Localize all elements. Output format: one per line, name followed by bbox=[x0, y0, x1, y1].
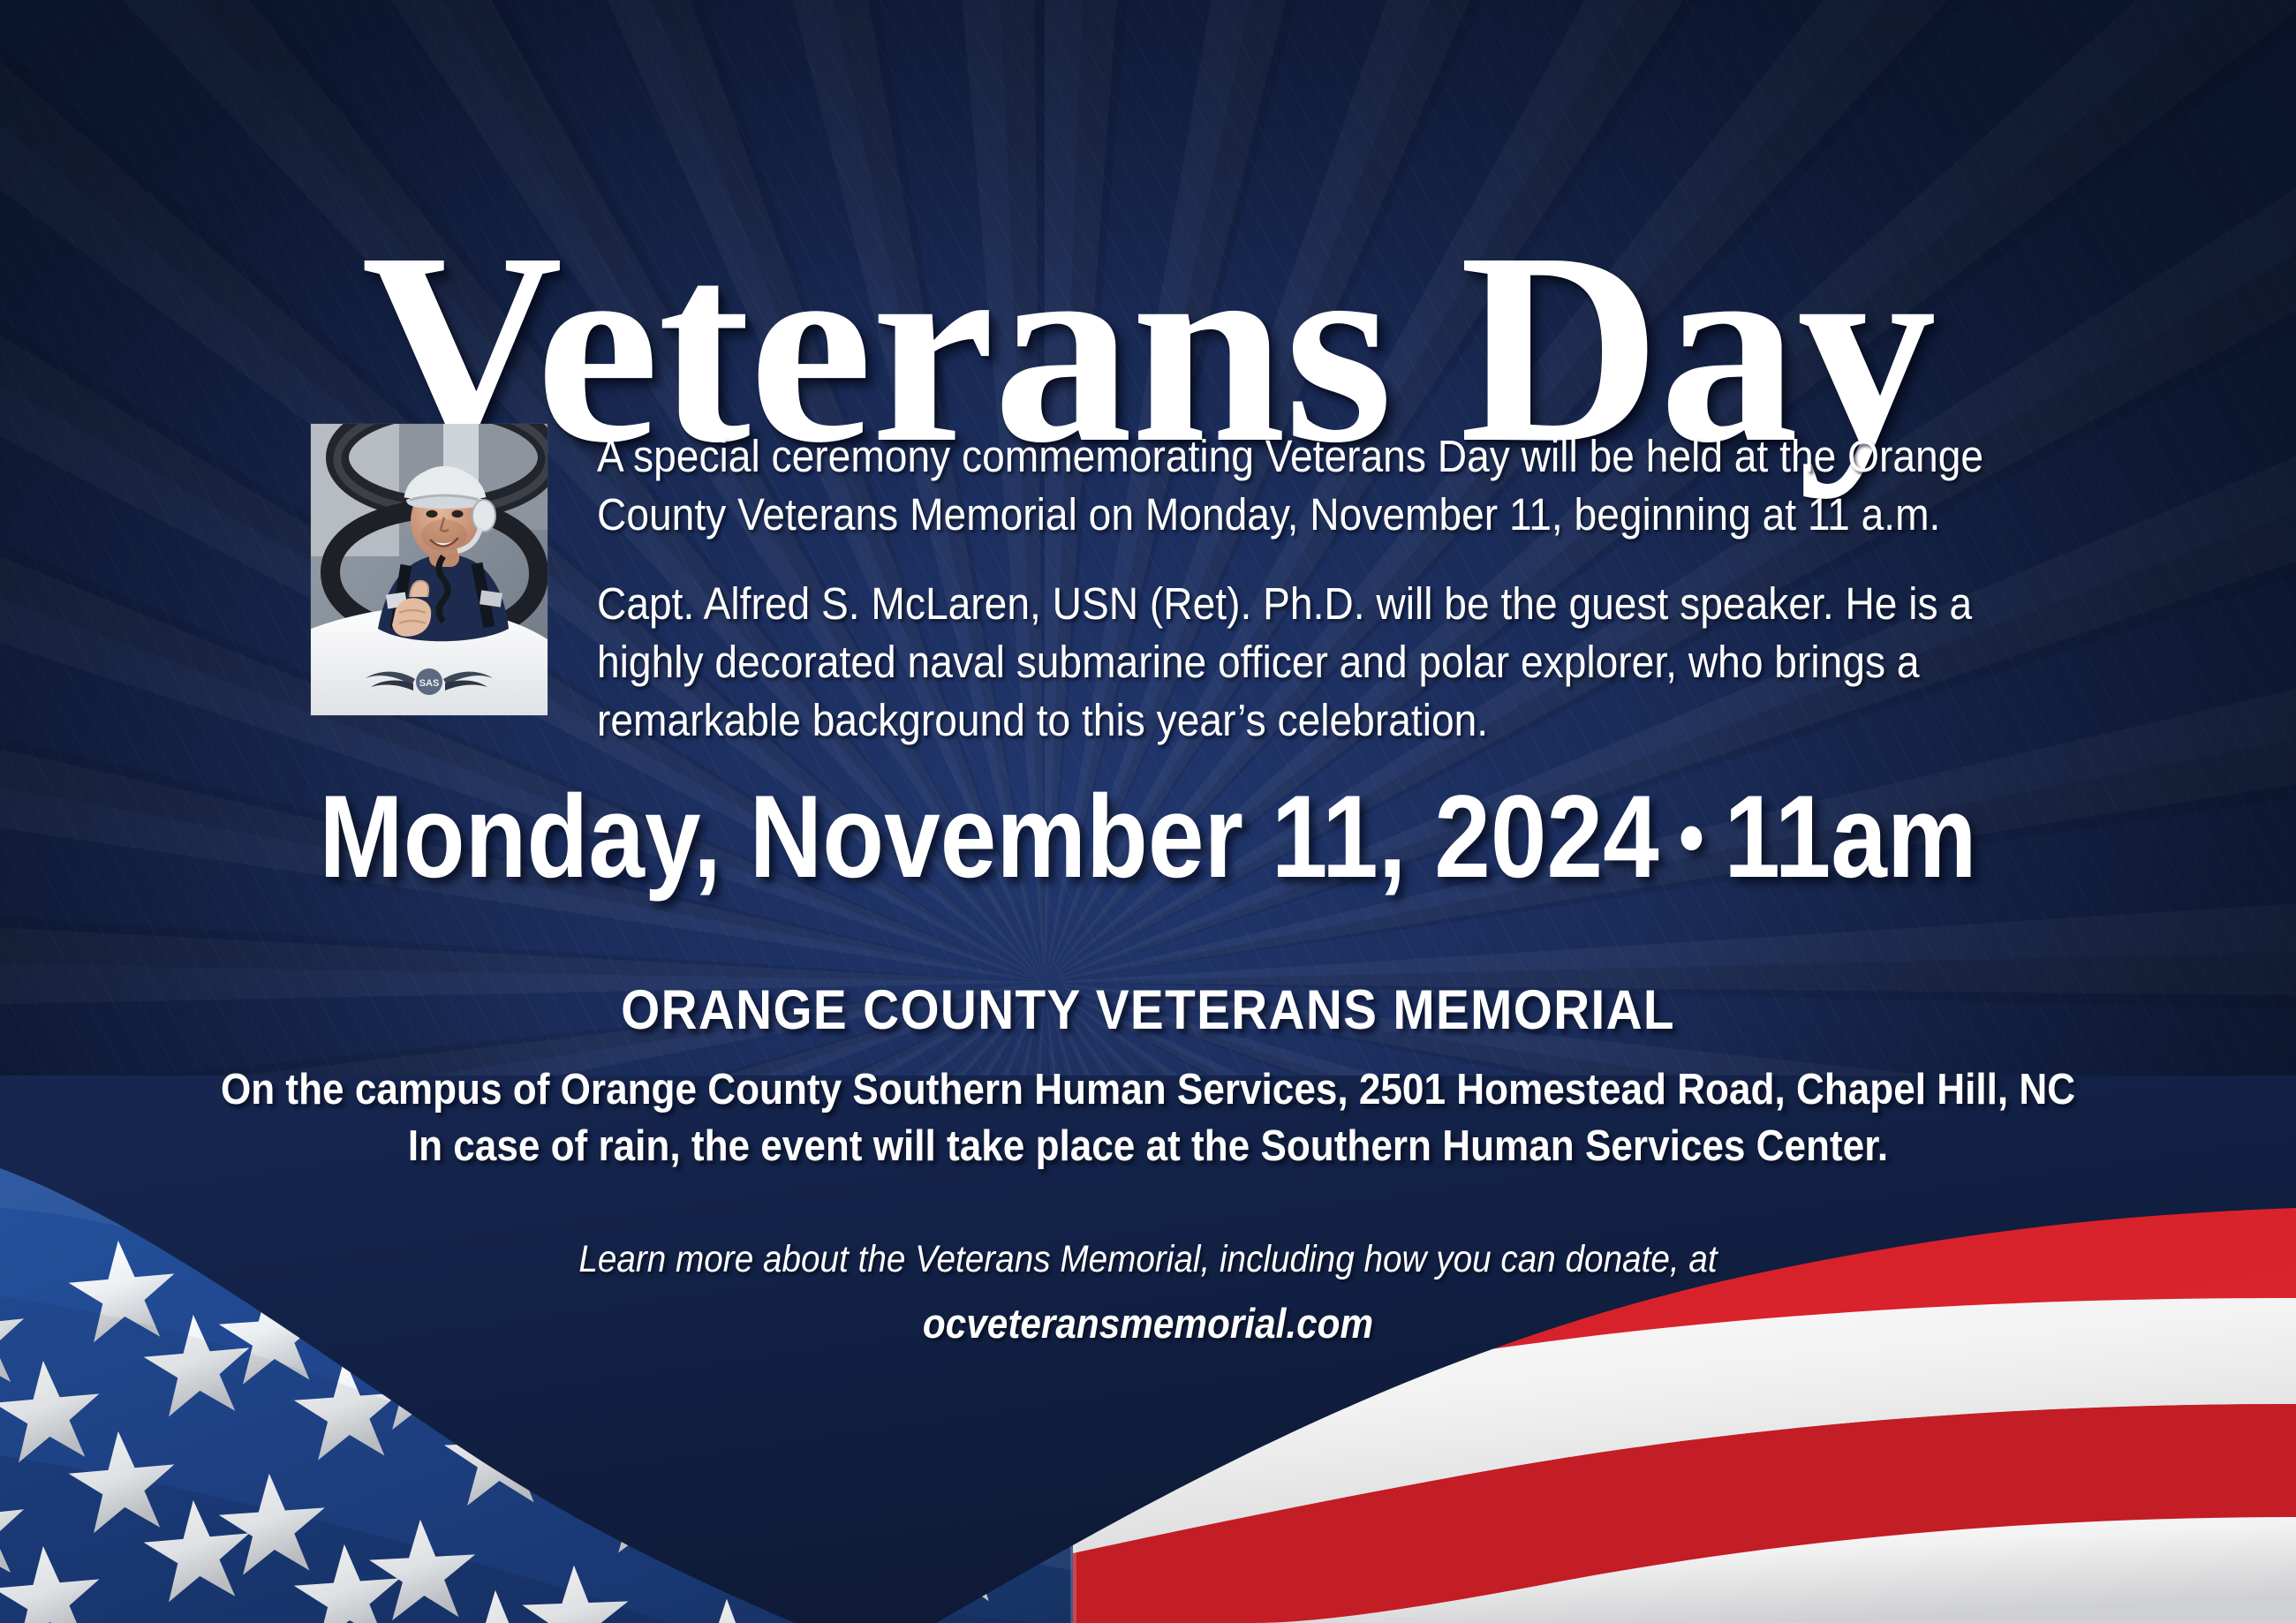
venue-section: ORANGE COUNTY VETERANS MEMORIAL On the c… bbox=[0, 980, 2296, 1175]
learn-more-section: Learn more about the Veterans Memorial, … bbox=[0, 1236, 2296, 1350]
veterans-day-poster: Veterans Day bbox=[0, 0, 2296, 1623]
event-date: Monday, November 11, 2024 bbox=[319, 772, 1658, 902]
intro-section: SAS A special ceremony commemorating Vet… bbox=[311, 424, 2042, 750]
dateline-separator-dot: • bbox=[1659, 796, 1725, 880]
venue-address: On the campus of Orange County Southern … bbox=[115, 1062, 2181, 1174]
learn-more-text: Learn more about the Veterans Memorial, … bbox=[115, 1236, 2181, 1284]
event-dateline: Monday, November 11, 2024•11am bbox=[161, 779, 2135, 896]
capt-mclaren-submersible-photo: SAS bbox=[311, 424, 548, 715]
intro-paragraph-1: A special ceremony commemorating Veteran… bbox=[597, 427, 2042, 545]
intro-paragraphs: A special ceremony commemorating Veteran… bbox=[548, 424, 2042, 750]
poster-content: Veterans Day bbox=[0, 0, 2296, 1623]
venue-address-line-1: On the campus of Orange County Southern … bbox=[221, 1066, 2075, 1113]
venue-address-line-2: In case of rain, the event will take pla… bbox=[115, 1119, 2181, 1175]
memorial-website-url[interactable]: ocveteransmemorial.com bbox=[115, 1298, 2181, 1350]
venue-name: ORANGE COUNTY VETERANS MEMORIAL bbox=[115, 980, 2181, 1041]
event-time: 11am bbox=[1724, 772, 1976, 902]
intro-paragraph-2: Capt. Alfred S. McLaren, USN (Ret). Ph.D… bbox=[597, 575, 2042, 751]
